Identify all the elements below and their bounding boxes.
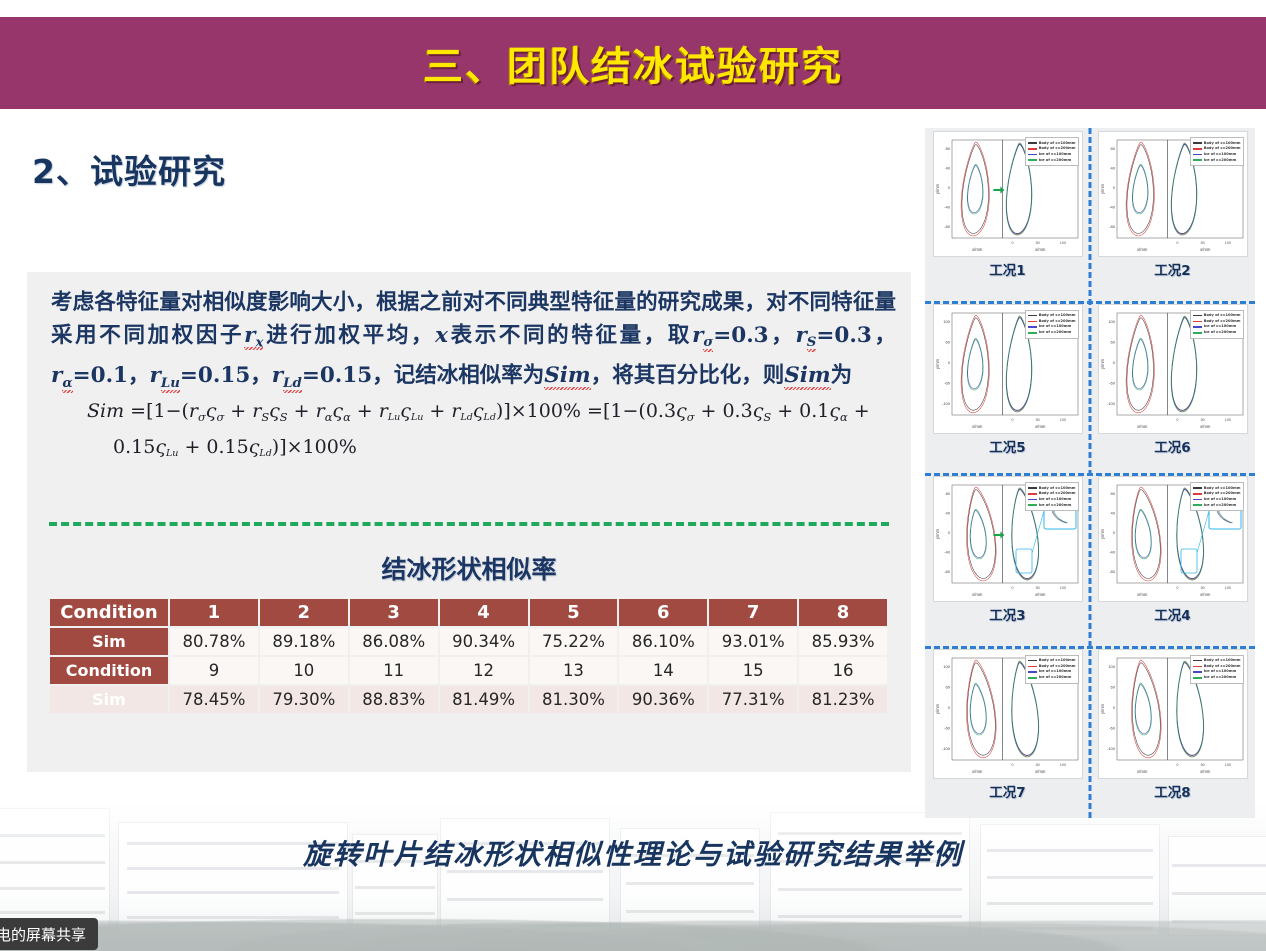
table-row-header: Condition xyxy=(50,657,168,684)
legend-swatch xyxy=(1028,666,1037,668)
formula-c3b-sub: α xyxy=(840,410,848,424)
svg-text:0: 0 xyxy=(1011,418,1013,422)
chart-curve xyxy=(967,338,983,390)
plot-box-8: x/mmx/mm-100-60060100050100y/mmBody of c… xyxy=(1098,649,1248,779)
svg-text:x/mm: x/mm xyxy=(1200,424,1211,429)
legend-swatch xyxy=(1028,142,1037,144)
svg-text:x/mm: x/mm xyxy=(1137,769,1148,774)
inset-selection-box xyxy=(1181,549,1197,573)
sim-formula: Sim =[1−(rσςσ + rSςS + rαςα + rLuςLu + r… xyxy=(51,400,896,459)
legend-label: Body of c=100mm xyxy=(1204,658,1241,663)
svg-text:100: 100 xyxy=(1224,763,1230,767)
legend-label: Ice of c=100mm xyxy=(1204,497,1237,502)
chart-curve xyxy=(970,509,987,559)
chart-legend: Body of c=100mmBody of c=200mmIce of c=1… xyxy=(1025,137,1079,166)
formula-c5-sub: Ld xyxy=(484,412,496,423)
svg-text:y/mm: y/mm xyxy=(935,358,940,369)
table-cell: 12 xyxy=(440,657,528,684)
svg-text:50: 50 xyxy=(1035,586,1039,590)
svg-text:0: 0 xyxy=(1112,360,1115,365)
table-column-header: 7 xyxy=(709,599,797,626)
svg-text:100: 100 xyxy=(943,319,950,324)
legend-swatch xyxy=(1193,332,1202,334)
chart-curve xyxy=(1132,165,1147,212)
chart-cell-3[interactable]: x/mmx/mm-80-4004080050100y/mmBody of c=1… xyxy=(925,473,1090,646)
svg-text:0: 0 xyxy=(1176,241,1178,245)
formula-coef-1: 0.3 xyxy=(646,400,676,422)
val-rLd: =0.15， xyxy=(302,363,394,388)
chart-curve xyxy=(1132,662,1160,754)
content-card: 考虑各特征量对相似度影响大小，根据之前对不同典型特征量的研究成果，对不同特征量采… xyxy=(27,272,911,772)
formula-coef-2: 0.3 xyxy=(722,400,752,422)
legend-swatch xyxy=(1028,326,1037,328)
slide-title-bar: 三、团队结冰试验研究 xyxy=(0,17,1266,109)
table-column-header: 5 xyxy=(530,599,618,626)
plot-box-4: x/mmx/mm-80-4004080050100y/mmBody of c=1… xyxy=(1098,476,1248,602)
chart-curve xyxy=(1132,338,1148,390)
inset-selection-box xyxy=(1016,549,1032,573)
svg-text:100: 100 xyxy=(1059,586,1065,590)
var-rLu-subscript: Lu xyxy=(161,375,180,393)
svg-text:-100: -100 xyxy=(941,400,950,405)
formula-close-bracket: )]×100% xyxy=(496,400,581,422)
legend-item: Ice of c=100mm xyxy=(1028,669,1076,674)
chart-condition-label: 工况1 xyxy=(989,259,1025,279)
formula-coef-5: 0.15 xyxy=(206,436,248,458)
legend-swatch xyxy=(1193,326,1202,328)
svg-text:40: 40 xyxy=(945,510,950,515)
chart-legend: Body of c=100mmBody of c=200mmIce of c=1… xyxy=(1190,310,1244,339)
chart-legend: Body of c=100mmBody of c=200mmIce of c=1… xyxy=(1190,137,1244,166)
green-arrow-icon xyxy=(993,186,1004,193)
formula-c3b: ς xyxy=(829,400,840,422)
green-dashed-divider xyxy=(49,522,889,526)
formula-r2-sub: S xyxy=(261,410,269,424)
svg-text:x/mm: x/mm xyxy=(1035,769,1046,774)
screen-share-label: 电的屏幕共享 xyxy=(0,924,86,945)
chart-legend: Body of c=100mmBody of c=200mmIce of c=1… xyxy=(1190,655,1244,684)
val-rLu: =0.15， xyxy=(180,363,272,388)
page-title: 三、团队结冰试验研究 xyxy=(423,34,843,92)
panel-horizontal-divider-3 xyxy=(925,646,1255,649)
table-cell: 80.78% xyxy=(170,628,258,655)
plot-box-5: x/mmx/mm-100-60060100050100y/mmBody of c… xyxy=(933,304,1083,434)
chart-condition-label: 工况6 xyxy=(1154,436,1190,456)
svg-text:x/mm: x/mm xyxy=(1035,424,1046,429)
plot-box-2: x/mmx/mm-80-4004080050100y/mmBody of c=1… xyxy=(1098,131,1248,257)
formula-c1: ς xyxy=(206,400,217,422)
legend-label: Ice of c=100mm xyxy=(1039,497,1072,502)
legend-label: Ice of c=200mm xyxy=(1039,502,1072,507)
table-cell: 86.10% xyxy=(619,628,707,655)
chart-curve xyxy=(1135,510,1151,557)
legend-swatch xyxy=(1193,493,1202,495)
legend-item: Ice of c=200mm xyxy=(1193,330,1241,335)
formula-c4b: ς xyxy=(155,436,166,458)
var-ralpha-subscript: α xyxy=(62,375,72,393)
table-cell: 15 xyxy=(709,657,797,684)
chart-curve xyxy=(970,683,987,735)
legend-item: Body of c=200mm xyxy=(1028,491,1076,496)
svg-text:50: 50 xyxy=(1035,418,1039,422)
formula-c2b: ς xyxy=(753,400,764,422)
val-rsigma: =0.3， xyxy=(713,323,795,348)
chart-cell-2[interactable]: x/mmx/mm-80-4004080050100y/mmBody of c=1… xyxy=(1090,128,1255,301)
formula-c3: ς xyxy=(332,400,343,422)
legend-label: Body of c=100mm xyxy=(1039,313,1076,318)
legend-item: Ice of c=200mm xyxy=(1193,675,1241,680)
table-row-header: Sim xyxy=(50,686,168,713)
legend-item: Ice of c=100mm xyxy=(1193,669,1241,674)
table-cell: 89.18% xyxy=(260,628,348,655)
table-cell: 10 xyxy=(260,657,348,684)
svg-text:0: 0 xyxy=(1112,705,1115,710)
legend-item: Body of c=200mm xyxy=(1028,146,1076,151)
plot-box-3: x/mmx/mm-80-4004080050100y/mmBody of c=1… xyxy=(933,476,1083,602)
formula-c4: ς xyxy=(400,400,411,422)
chart-panel: x/mmx/mm-80-4004080050100y/mmBody of c=1… xyxy=(925,128,1255,818)
svg-text:y/mm: y/mm xyxy=(1100,703,1105,714)
formula-coef-3: 0.1 xyxy=(799,400,829,422)
svg-text:0: 0 xyxy=(1011,763,1013,767)
formula-c2: ς xyxy=(269,400,280,422)
svg-text:0: 0 xyxy=(1011,241,1013,245)
legend-label: Ice of c=200mm xyxy=(1204,330,1237,335)
plot-box-1: x/mmx/mm-80-4004080050100y/mmBody of c=1… xyxy=(933,131,1083,257)
svg-text:-100: -100 xyxy=(1106,400,1115,405)
formula-open-bracket-2: [1−( xyxy=(603,400,646,422)
table-row-header: Condition xyxy=(50,599,168,626)
var-rS-subscript: S xyxy=(807,334,817,352)
legend-swatch xyxy=(1028,159,1037,161)
legend-label: Ice of c=200mm xyxy=(1204,502,1237,507)
svg-text:0: 0 xyxy=(1011,586,1013,590)
chart-condition-label: 工况4 xyxy=(1154,604,1190,624)
svg-text:60: 60 xyxy=(945,339,950,344)
table-cell: 81.49% xyxy=(440,686,528,713)
svg-text:50: 50 xyxy=(1200,763,1204,767)
svg-text:0: 0 xyxy=(1112,530,1115,535)
legend-label: Ice of c=100mm xyxy=(1039,152,1072,157)
svg-text:0: 0 xyxy=(947,705,950,710)
chart-curve xyxy=(967,339,982,388)
var-rLu: r xyxy=(150,363,161,388)
svg-text:y/mm: y/mm xyxy=(1100,528,1105,539)
svg-text:x/mm: x/mm xyxy=(1200,592,1211,597)
plot-box-6: x/mmx/mm-100-60060100050100y/mmBody of c… xyxy=(1098,304,1248,434)
svg-text:y/mm: y/mm xyxy=(1100,358,1105,369)
legend-label: Ice of c=200mm xyxy=(1039,330,1072,335)
chart-curve xyxy=(970,510,986,557)
svg-text:-80: -80 xyxy=(1109,569,1116,574)
svg-text:0: 0 xyxy=(1112,185,1115,190)
legend-label: Body of c=100mm xyxy=(1039,658,1076,663)
table-cell: 81.30% xyxy=(530,686,618,713)
legend-item: Body of c=100mm xyxy=(1193,658,1241,663)
svg-text:50: 50 xyxy=(1200,241,1204,245)
table-cell: 88.83% xyxy=(350,686,438,713)
svg-text:100: 100 xyxy=(1059,241,1065,245)
table-cell: 13 xyxy=(530,657,618,684)
paragraph-text-e: ，将其百分比化，则 xyxy=(591,363,785,388)
svg-text:60: 60 xyxy=(1110,339,1115,344)
chart-cell-8[interactable]: x/mmx/mm-100-60060100050100y/mmBody of c… xyxy=(1090,646,1255,819)
chart-cell-1[interactable]: x/mmx/mm-80-4004080050100y/mmBody of c=1… xyxy=(925,128,1090,301)
svg-text:x/mm: x/mm xyxy=(972,769,983,774)
formula-c1b-sub: σ xyxy=(687,410,695,424)
svg-text:0: 0 xyxy=(947,185,950,190)
var-ralpha: r xyxy=(51,363,62,388)
table-column-header: 2 xyxy=(260,599,348,626)
chart-curve xyxy=(1135,684,1151,733)
legend-label: Body of c=200mm xyxy=(1039,146,1076,151)
formula-r1-sub: σ xyxy=(198,410,206,424)
svg-text:0: 0 xyxy=(1176,586,1178,590)
chart-curve xyxy=(1132,490,1160,579)
legend-label: Ice of c=200mm xyxy=(1039,675,1072,680)
screen-share-badge: 电的屏幕共享 xyxy=(0,918,98,950)
svg-text:y/mm: y/mm xyxy=(935,528,940,539)
chart-curve xyxy=(1126,315,1154,413)
table-row: Sim78.45%79.30%88.83%81.49%81.30%90.36%7… xyxy=(50,686,887,713)
table-cell: 78.45% xyxy=(170,686,258,713)
sim-word-1: Sim xyxy=(544,363,590,390)
formula-c3-sub: α xyxy=(343,410,351,424)
chart-curve xyxy=(961,315,989,413)
formula-r4: r xyxy=(379,400,388,422)
legend-item: Body of c=200mm xyxy=(1193,146,1241,151)
chart-curve xyxy=(1131,487,1161,581)
chart-cell-6[interactable]: x/mmx/mm-100-60060100050100y/mmBody of c… xyxy=(1090,301,1255,474)
formula-c1b: ς xyxy=(676,400,687,422)
chart-curve xyxy=(967,164,983,214)
paragraph-text-f: 为 xyxy=(831,363,853,388)
svg-text:x/mm: x/mm xyxy=(972,247,983,252)
legend-swatch xyxy=(1193,142,1202,144)
svg-text:-100: -100 xyxy=(1106,745,1115,750)
chart-condition-label: 工况3 xyxy=(989,604,1025,624)
chart-condition-label: 工况7 xyxy=(989,781,1025,801)
table-column-header: 1 xyxy=(170,599,258,626)
var-rLd: r xyxy=(272,363,283,388)
table-cell: 90.36% xyxy=(619,686,707,713)
legend-swatch xyxy=(1028,148,1037,150)
svg-text:-80: -80 xyxy=(944,224,951,229)
svg-text:-60: -60 xyxy=(944,725,951,730)
svg-text:y/mm: y/mm xyxy=(935,703,940,714)
table-cell: 90.34% xyxy=(440,628,528,655)
chart-legend: Body of c=100mmBody of c=200mmIce of c=1… xyxy=(1190,482,1244,511)
legend-swatch xyxy=(1028,660,1037,662)
slide-caption: 旋转叶片结冰形状相似性理论与试验研究结果举例 xyxy=(0,833,1266,873)
svg-text:x/mm: x/mm xyxy=(1137,424,1148,429)
chart-condition-label: 工况2 xyxy=(1154,259,1190,279)
legend-swatch xyxy=(1193,666,1202,668)
chart-curve xyxy=(961,142,989,236)
val-rS: =0.3， xyxy=(816,323,896,348)
formula-c5b: ς xyxy=(249,436,260,458)
table-cell: 86.08% xyxy=(350,628,438,655)
formula-c1-sub: σ xyxy=(216,410,224,424)
paragraph-text-c: 表示不同的特征量，取 xyxy=(448,323,692,348)
sim-word-2: Sim xyxy=(784,363,830,390)
body-paragraph: 考虑各特征量对相似度影响大小，根据之前对不同典型特征量的研究成果，对不同特征量采… xyxy=(51,286,896,400)
formula-coef-4: 0.15 xyxy=(113,436,155,458)
svg-text:0: 0 xyxy=(947,360,950,365)
svg-text:-60: -60 xyxy=(1109,725,1116,730)
legend-item: Ice of c=200mm xyxy=(1028,330,1076,335)
legend-item: Body of c=100mm xyxy=(1193,313,1241,318)
svg-text:100: 100 xyxy=(1059,763,1065,767)
legend-item: Ice of c=100mm xyxy=(1193,152,1241,157)
legend-item: Ice of c=100mm xyxy=(1028,497,1076,502)
formula-c4-sub: Lu xyxy=(411,412,423,423)
chart-curve xyxy=(1132,339,1147,388)
svg-text:80: 80 xyxy=(945,146,950,151)
legend-label: Body of c=200mm xyxy=(1039,491,1076,496)
top-white-strip xyxy=(0,0,1266,17)
svg-text:x/mm: x/mm xyxy=(972,592,983,597)
legend-label: Body of c=200mm xyxy=(1204,146,1241,151)
chart-cell-4[interactable]: x/mmx/mm-80-4004080050100y/mmBody of c=1… xyxy=(1090,473,1255,646)
paragraph-text-d: 记结冰相似率为 xyxy=(394,363,545,388)
formula-line-1: Sim =[1−(rσςσ + rSςS + rαςα + rLuςLu + r… xyxy=(51,400,896,424)
var-rsigma: r xyxy=(692,323,703,348)
table-cell: 81.23% xyxy=(799,686,887,713)
legend-item: Ice of c=200mm xyxy=(1193,158,1241,163)
formula-equals-2: = xyxy=(587,400,603,422)
svg-text:-40: -40 xyxy=(1109,205,1116,210)
svg-text:100: 100 xyxy=(1059,418,1065,422)
formula-c5b-sub: Ld xyxy=(259,448,271,459)
svg-text:y/mm: y/mm xyxy=(935,183,940,194)
svg-text:40: 40 xyxy=(1110,510,1115,515)
chart-condition-label: 工况5 xyxy=(989,436,1025,456)
svg-text:40: 40 xyxy=(945,165,950,170)
legend-swatch xyxy=(1193,321,1202,323)
table-column-header: 4 xyxy=(440,599,528,626)
legend-swatch xyxy=(1193,487,1202,489)
table-row: Condition12345678 xyxy=(50,599,887,626)
var-rS: r xyxy=(795,323,806,348)
svg-text:0: 0 xyxy=(1176,763,1178,767)
chart-curve xyxy=(1126,142,1154,236)
svg-text:x/mm: x/mm xyxy=(1035,247,1046,252)
formula-close-bracket-2: )]×100% xyxy=(272,436,357,458)
table-row: Condition910111213141516 xyxy=(50,657,887,684)
chart-curve xyxy=(967,165,982,212)
chart-curve xyxy=(1126,145,1153,234)
formula-c2-sub: S xyxy=(280,410,288,424)
table-cell: 85.93% xyxy=(799,628,887,655)
legend-swatch xyxy=(1193,315,1202,317)
legend-item: Ice of c=100mm xyxy=(1028,324,1076,329)
svg-text:100: 100 xyxy=(1108,319,1115,324)
chart-curve xyxy=(961,317,988,409)
formula-plus-2: + xyxy=(184,436,200,458)
table-cell: 16 xyxy=(799,657,887,684)
svg-text:-100: -100 xyxy=(941,745,950,750)
chart-cell-5[interactable]: x/mmx/mm-100-60060100050100y/mmBody of c… xyxy=(925,301,1090,474)
legend-label: Ice of c=200mm xyxy=(1204,675,1237,680)
formula-open-bracket: [1−( xyxy=(146,400,189,422)
chart-curve xyxy=(967,490,995,579)
legend-item: Body of c=100mm xyxy=(1028,313,1076,318)
chart-curve xyxy=(970,684,986,733)
var-r: r xyxy=(244,323,255,348)
table-row: Sim80.78%89.18%86.08%90.34%75.22%86.10%9… xyxy=(50,628,887,655)
legend-item: Ice of c=200mm xyxy=(1028,675,1076,680)
campus-photo-background xyxy=(0,800,1266,951)
svg-text:y/mm: y/mm xyxy=(1100,183,1105,194)
table-title: 结冰形状相似率 xyxy=(27,550,911,586)
svg-text:100: 100 xyxy=(943,664,950,669)
formula-r3: r xyxy=(316,400,325,422)
legend-swatch xyxy=(1028,671,1037,673)
table-column-header: 3 xyxy=(350,599,438,626)
chart-curve xyxy=(1135,683,1152,735)
paragraph-text-b: 进行加权平均， xyxy=(263,323,435,348)
legend-item: Ice of c=100mm xyxy=(1193,324,1241,329)
panel-horizontal-divider-2 xyxy=(925,473,1255,476)
legend-swatch xyxy=(1028,487,1037,489)
table-column-header: 8 xyxy=(799,599,887,626)
legend-item: Body of c=200mm xyxy=(1193,491,1241,496)
chart-curve xyxy=(966,487,996,581)
svg-text:-80: -80 xyxy=(944,569,951,574)
val-ralpha: =0.1， xyxy=(73,363,150,388)
chart-curve xyxy=(1135,509,1152,559)
formula-lhs: Sim xyxy=(87,400,124,422)
similarity-table: Condition12345678Sim80.78%89.18%86.08%90… xyxy=(48,597,889,715)
svg-text:-80: -80 xyxy=(1109,224,1116,229)
svg-text:60: 60 xyxy=(1110,684,1115,689)
svg-text:-60: -60 xyxy=(944,380,951,385)
svg-text:x/mm: x/mm xyxy=(1137,592,1148,597)
legend-item: Ice of c=200mm xyxy=(1193,503,1241,508)
legend-label: Body of c=200mm xyxy=(1204,491,1241,496)
legend-swatch xyxy=(1028,499,1037,501)
chart-curve xyxy=(1132,164,1148,214)
legend-swatch xyxy=(1193,154,1202,156)
legend-label: Ice of c=200mm xyxy=(1204,157,1237,162)
svg-text:50: 50 xyxy=(1200,586,1204,590)
table-cell: 77.31% xyxy=(709,686,797,713)
chart-curve xyxy=(1126,317,1153,409)
legend-item: Body of c=100mm xyxy=(1028,658,1076,663)
svg-text:0: 0 xyxy=(947,530,950,535)
chart-condition-label: 工况8 xyxy=(1154,781,1190,801)
legend-swatch xyxy=(1193,677,1202,679)
svg-text:x/mm: x/mm xyxy=(972,424,983,429)
svg-text:100: 100 xyxy=(1108,664,1115,669)
svg-text:-60: -60 xyxy=(1109,380,1116,385)
chart-legend: Body of c=100mmBody of c=200mmIce of c=1… xyxy=(1025,310,1079,339)
legend-label: Ice of c=200mm xyxy=(1039,157,1072,162)
formula-r1: r xyxy=(189,400,198,422)
legend-item: Ice of c=100mm xyxy=(1028,152,1076,157)
chart-curve xyxy=(966,660,996,758)
chart-cell-7[interactable]: x/mmx/mm-100-60060100050100y/mmBody of c… xyxy=(925,646,1090,819)
table-cell: 9 xyxy=(170,657,258,684)
chart-curve xyxy=(1131,660,1161,758)
svg-text:80: 80 xyxy=(945,491,950,496)
formula-equals: = xyxy=(130,400,146,422)
formula-line-2: 0.15ςLu + 0.15ςLd)]×100% xyxy=(51,436,896,459)
table-cell: 14 xyxy=(619,657,707,684)
var-rLd-subscript: Ld xyxy=(283,375,302,393)
svg-text:-40: -40 xyxy=(1109,550,1116,555)
